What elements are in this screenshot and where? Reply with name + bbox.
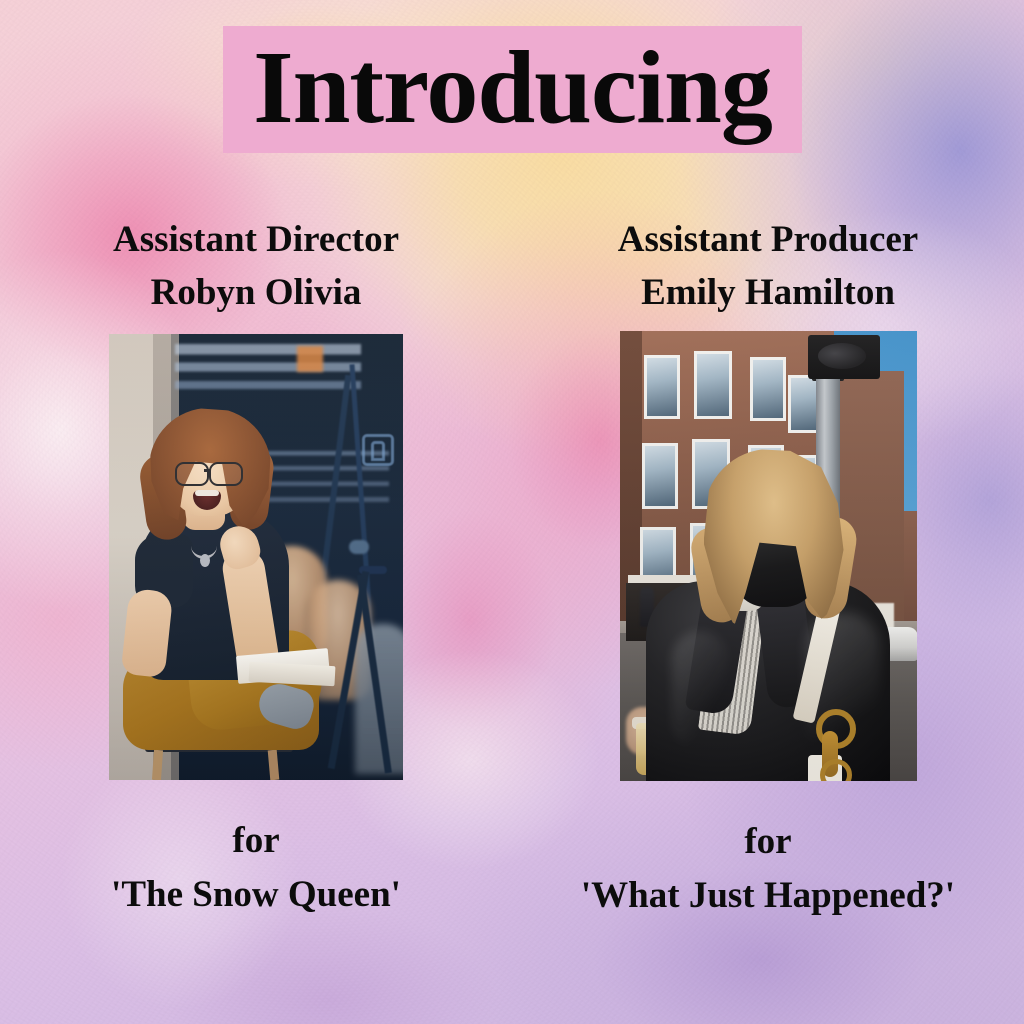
person-name-right: Emily Hamilton	[641, 267, 895, 320]
photo-right-window	[694, 351, 732, 419]
photo-left-glasses-bridge	[204, 469, 211, 472]
poster-content: Introducing Assistant Director Robyn Oli…	[0, 0, 1024, 1024]
photo-right-shop-sign	[808, 335, 880, 379]
page-title: Introducing	[253, 36, 772, 140]
credits-columns: Assistant Director Robyn Olivia	[0, 214, 1024, 974]
photo-left-pendant	[200, 554, 210, 567]
person-role-right: Assistant Producer	[618, 214, 918, 267]
person-column-left: Assistant Director Robyn Olivia	[0, 214, 512, 974]
photo-left-orange-accent	[297, 346, 323, 372]
for-label-right: for	[581, 815, 955, 869]
photo-right-strap-clasp-loop	[820, 759, 852, 781]
photo-left-arm-left	[121, 588, 174, 678]
person-photo-left	[109, 334, 403, 780]
photo-left-glasses-lens-left	[175, 462, 209, 486]
photo-right-window	[644, 355, 680, 419]
photo-left-logo	[362, 434, 394, 466]
person-name-left: Robyn Olivia	[151, 267, 362, 320]
production-caption-right: for 'What Just Happened?'	[581, 815, 955, 922]
photo-left-glasses-lens-right	[209, 462, 243, 486]
poster: Introducing Assistant Director Robyn Oli…	[0, 0, 1024, 1024]
photo-left-banner-text	[175, 344, 361, 410]
photo-right-window	[750, 357, 786, 421]
photo-left-teeth	[195, 490, 219, 496]
photo-left-microphone	[349, 540, 369, 554]
photo-right-jacket-sheen-left	[672, 631, 728, 751]
title-banner: Introducing	[223, 26, 802, 153]
production-title-left: 'The Snow Queen'	[111, 868, 401, 922]
person-role-left: Assistant Director	[113, 214, 399, 267]
person-photo-right	[620, 331, 917, 781]
for-label-left: for	[111, 814, 401, 868]
photo-right-window	[642, 443, 678, 509]
production-caption-left: for 'The Snow Queen'	[111, 814, 401, 921]
person-column-right: Assistant Producer Emily Hamilton	[512, 214, 1024, 974]
production-title-right: 'What Just Happened?'	[581, 869, 955, 923]
